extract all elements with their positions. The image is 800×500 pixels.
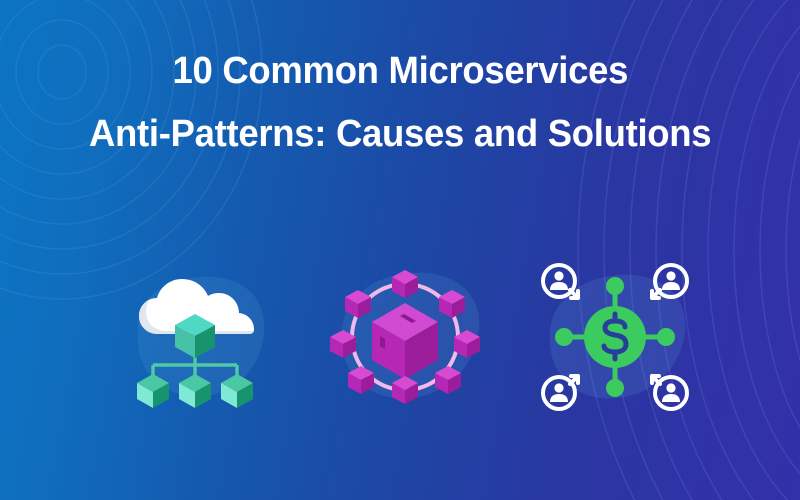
satellite-cube-sw [348,366,374,394]
child-service-cube-1 [137,374,169,408]
child-service-cube-3 [221,374,253,408]
satellite-cube-se [435,366,461,394]
child-service-cube-2 [179,374,211,408]
node-bottom [606,379,624,397]
user-bottom-right [652,376,687,409]
banner-hero: 10 Common Microservices Anti-Patterns: C… [0,0,800,500]
node-right [657,328,675,346]
satellite-cube-n [392,270,418,298]
center-container-cube [372,303,438,379]
node-left [555,328,573,346]
dollar-circle [584,306,646,368]
icon-row [0,0,800,500]
user-top-right [652,265,687,298]
user-top-left [542,265,578,312]
container-ring-icon [330,262,480,412]
satellite-cube-s [392,376,418,404]
satellite-cube-ne [439,290,465,318]
money-network-icon [540,262,690,412]
node-top [606,277,624,295]
user-bottom-left [543,376,578,409]
satellite-cube-nw [345,290,371,318]
cloud-hierarchy-icon [120,262,270,412]
